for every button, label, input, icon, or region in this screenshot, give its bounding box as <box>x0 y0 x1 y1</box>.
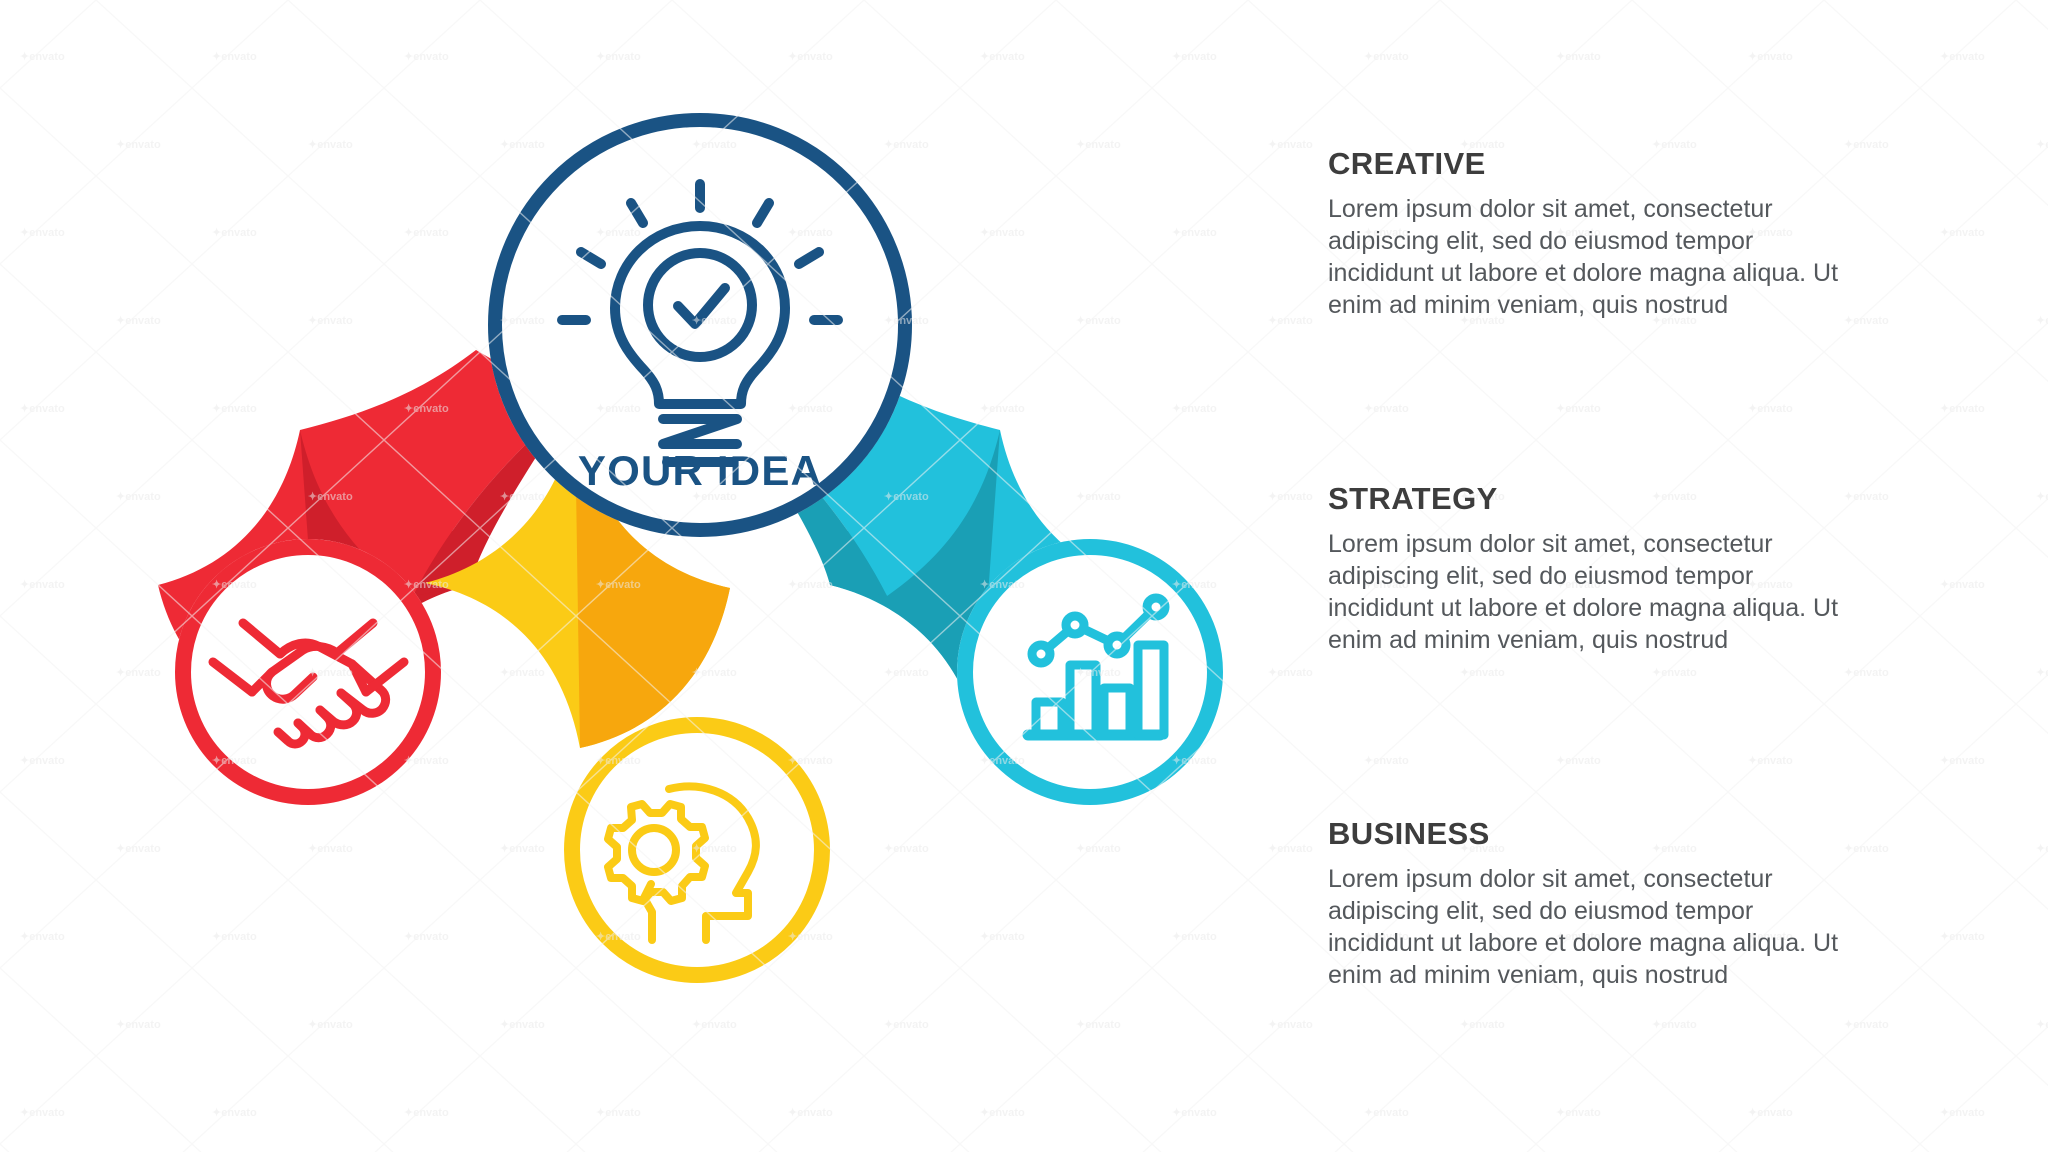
section-body-strategy: Lorem ipsum dolor sit amet, consectetur … <box>1328 528 1848 656</box>
infographic-canvas: YOUR IDEA CREATIVE Lorem ipsum dolor sit… <box>0 0 2048 1152</box>
hub-circle[interactable]: YOUR IDEA <box>488 113 912 537</box>
node-circle-business[interactable] <box>564 717 830 983</box>
infographic-diagram: YOUR IDEA <box>0 0 1300 1152</box>
hub-label: YOUR IDEA <box>578 447 822 494</box>
content-column: CREATIVE Lorem ipsum dolor sit amet, con… <box>1328 0 1948 1152</box>
section-strategy: STRATEGY Lorem ipsum dolor sit amet, con… <box>1328 483 1928 656</box>
section-body-creative: Lorem ipsum dolor sit amet, consectetur … <box>1328 193 1848 321</box>
section-body-business: Lorem ipsum dolor sit amet, consectetur … <box>1328 863 1848 991</box>
section-title-creative: CREATIVE <box>1328 148 1928 181</box>
section-creative: CREATIVE Lorem ipsum dolor sit amet, con… <box>1328 148 1928 321</box>
section-title-business: BUSINESS <box>1328 818 1928 851</box>
section-title-strategy: STRATEGY <box>1328 483 1928 516</box>
node-circle-strategy[interactable] <box>957 539 1223 805</box>
node-circle-creative[interactable] <box>175 539 441 805</box>
section-business: BUSINESS Lorem ipsum dolor sit amet, con… <box>1328 818 1928 991</box>
